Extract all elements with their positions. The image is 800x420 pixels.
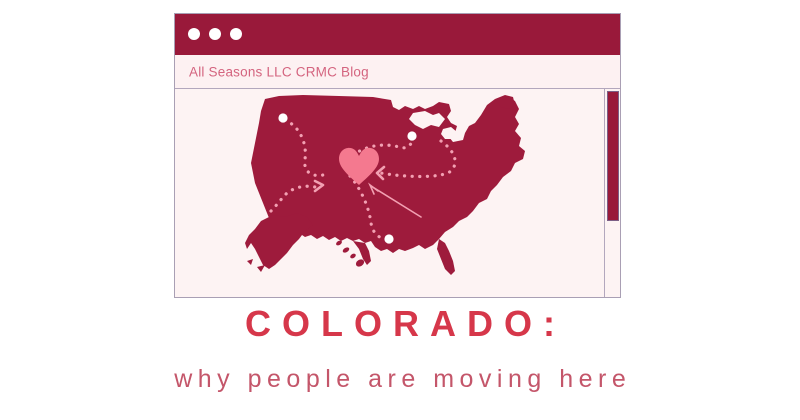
poster-canvas: All Seasons LLC CRMC Blog [0, 0, 800, 420]
close-dot[interactable] [188, 28, 200, 40]
address-input[interactable]: All Seasons LLC CRMC Blog [189, 64, 369, 79]
browser-title-bar [175, 14, 620, 55]
window-controls[interactable] [188, 28, 242, 40]
vertical-scrollbar[interactable] [604, 89, 620, 297]
browser-window: All Seasons LLC CRMC Blog [174, 13, 621, 298]
minimize-dot[interactable] [209, 28, 221, 40]
marker-gulf-south [384, 234, 393, 243]
browser-viewport [175, 89, 620, 297]
marker-pacific-northwest [278, 113, 287, 122]
usa-landmass-icon [245, 95, 525, 275]
page-subtitle: why people are moving here [0, 365, 800, 394]
page-title: COLORADO: [0, 303, 800, 345]
usa-map-graphic [243, 93, 553, 293]
scrollbar-thumb[interactable] [607, 91, 619, 221]
browser-address-bar[interactable]: All Seasons LLC CRMC Blog [175, 55, 620, 89]
maximize-dot[interactable] [230, 28, 242, 40]
marker-upper-midwest [407, 131, 416, 140]
